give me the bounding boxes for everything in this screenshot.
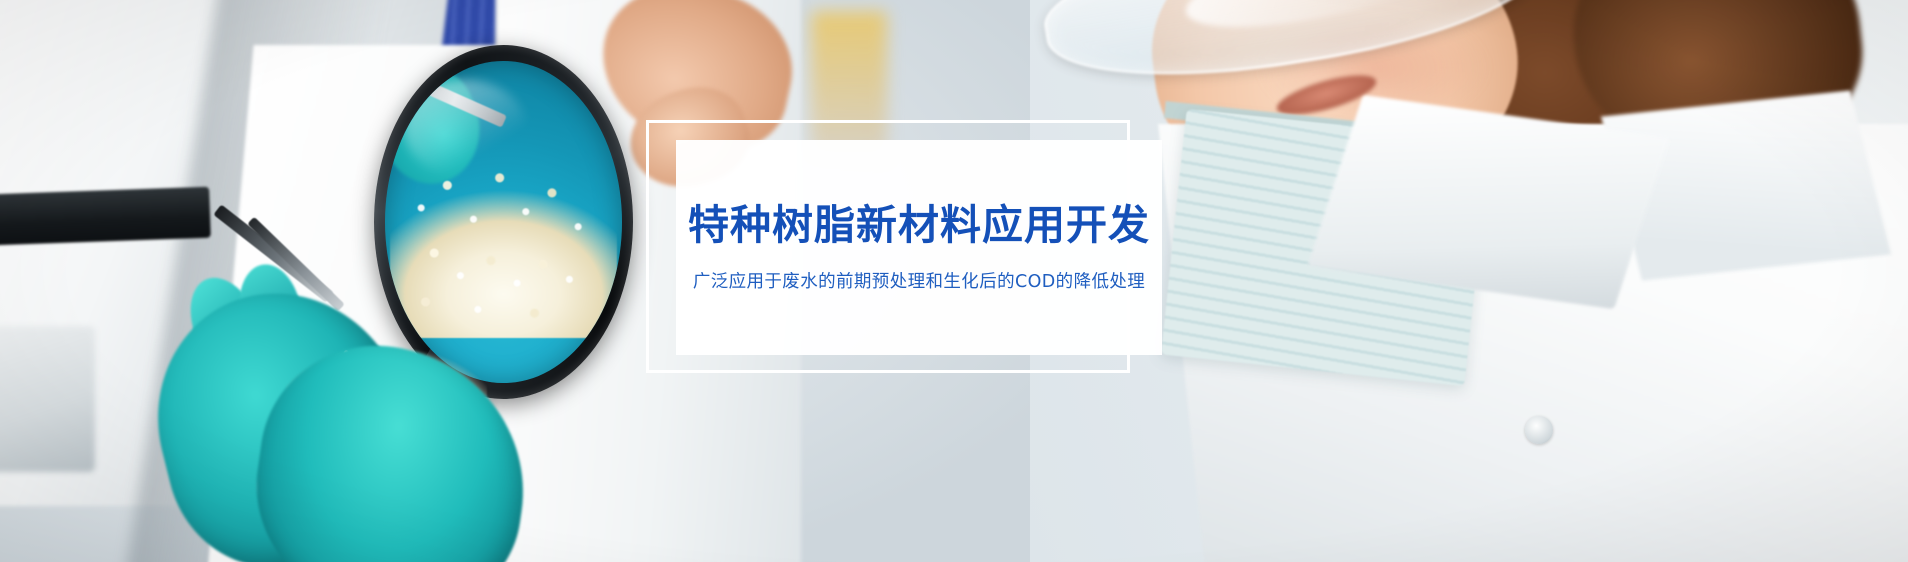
banner-text-panel: 特种树脂新材料应用开发 广泛应用于废水的前期预处理和生化后的COD的降低处理 [676,140,1162,355]
banner-headline: 特种树脂新材料应用开发 [688,202,1150,249]
hero-banner: 特种树脂新材料应用开发 广泛应用于废水的前期预处理和生化后的COD的降低处理 [0,0,1908,562]
banner-subline: 广泛应用于废水的前期预处理和生化后的COD的降低处理 [693,268,1145,293]
banner-text-stack: 特种树脂新材料应用开发 广泛应用于废水的前期预处理和生化后的COD的降低处理 [676,140,1162,355]
